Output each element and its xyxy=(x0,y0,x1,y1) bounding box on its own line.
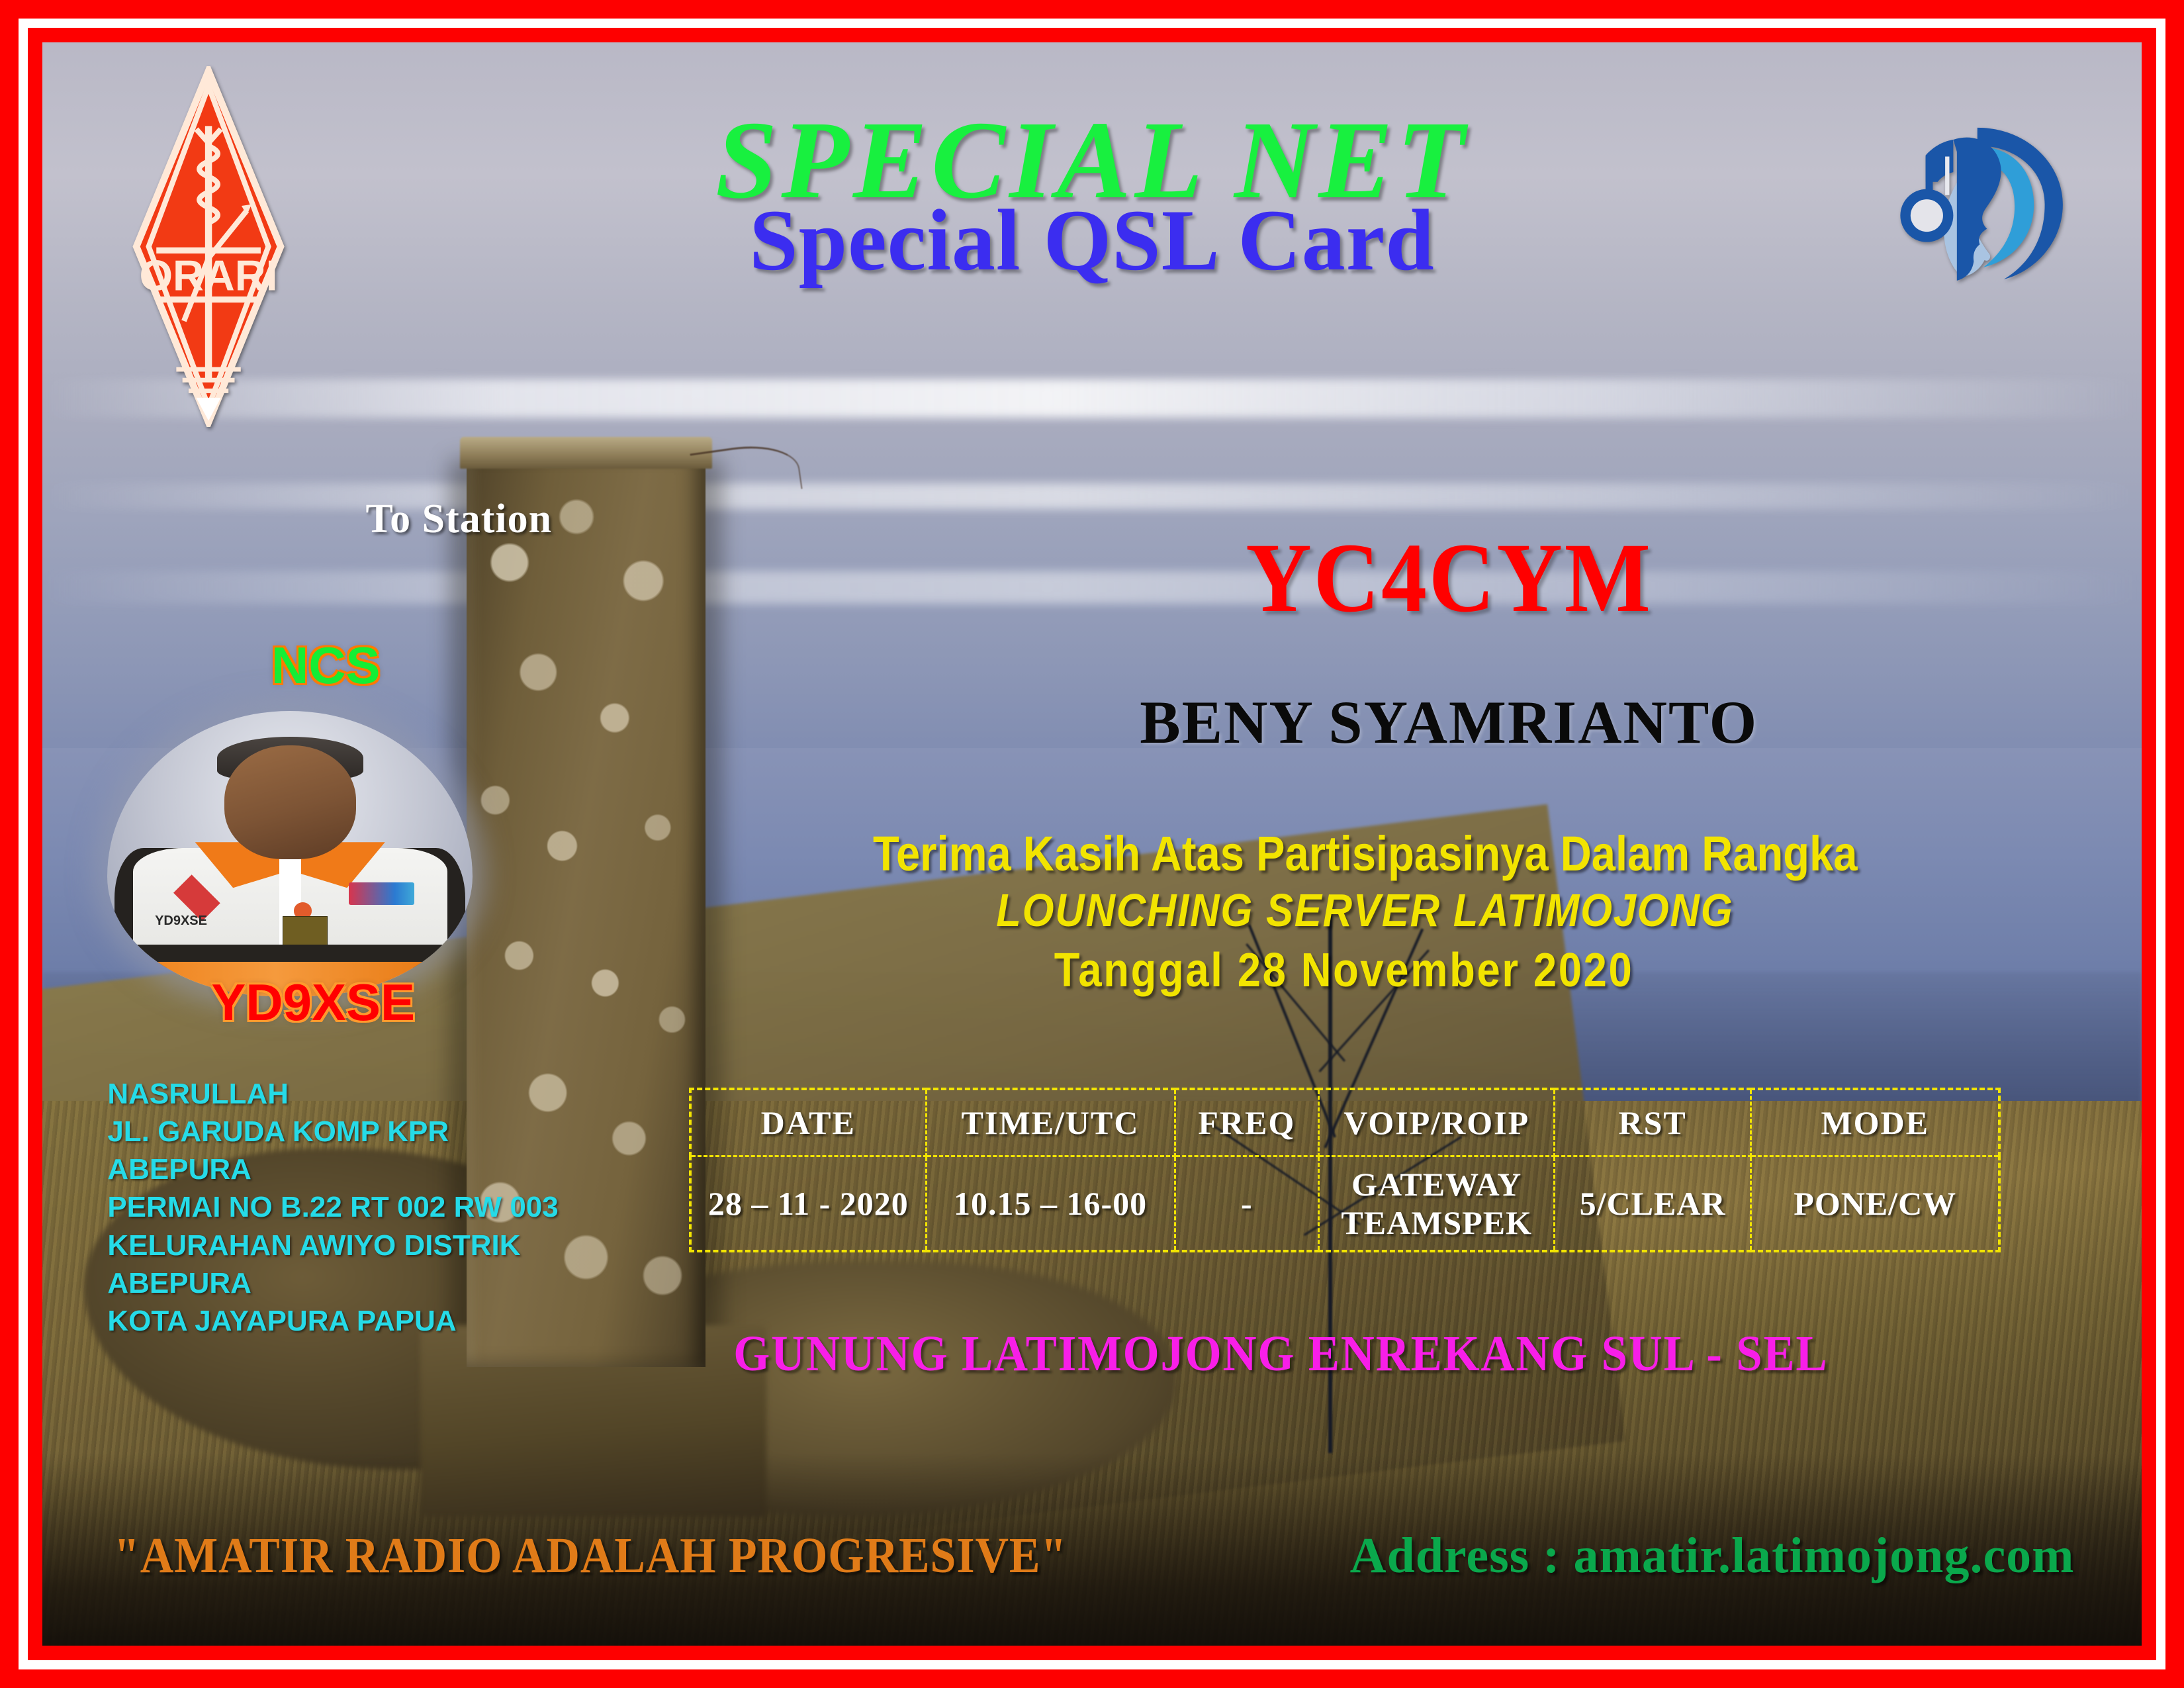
column-header-time: TIME/UTC xyxy=(926,1089,1175,1156)
address-line: PERMAI NO B.22 RT 002 RW 003 xyxy=(107,1188,737,1226)
page-subtitle: Special QSL Card xyxy=(42,197,2142,284)
cell-voip-line1: GATEWAY xyxy=(1322,1165,1551,1203)
station-callsign: YC4CYM xyxy=(927,528,1970,628)
cell-mode: PONE/CW xyxy=(1751,1156,2000,1252)
ncs-callsign: YD9XSE xyxy=(114,972,513,1033)
ncs-role-label: NCS xyxy=(158,635,494,696)
card-white-gap: ORARI SPECIAL NET Special QSL Card To St… xyxy=(19,19,2165,1669)
thanks-line: Terima Kasih Atas Partisipasinya Dalam R… xyxy=(755,829,1974,878)
column-header-voip: VOIP/ROIP xyxy=(1319,1089,1555,1156)
cloud-streak xyxy=(42,483,2142,509)
pillar-cap xyxy=(460,437,712,469)
column-header-freq: FREQ xyxy=(1175,1089,1319,1156)
column-header-date: DATE xyxy=(690,1089,926,1156)
column-header-mode: MODE xyxy=(1751,1089,2000,1156)
cell-freq: - xyxy=(1175,1156,1319,1252)
event-date-line: Tanggal 28 November 2020 xyxy=(790,947,1898,994)
qso-log-table: DATE TIME/UTC FREQ VOIP/ROIP RST MODE 28… xyxy=(689,1088,2001,1252)
cell-rst: 5/CLEAR xyxy=(1555,1156,1751,1252)
card-inner-red-border: ORARI SPECIAL NET Special QSL Card To St… xyxy=(28,28,2156,1660)
location-line: GUNUNG LATIMOJONG ENREKANG SUL - SEL xyxy=(676,1325,1886,1383)
address-line: ABEPURA xyxy=(107,1264,737,1302)
postal-address-block: NASRULLAH JL. GARUDA KOMP KPR ABEPURA PE… xyxy=(107,1075,737,1340)
cloud-streak xyxy=(42,379,2142,418)
cell-time: 10.15 – 16-00 xyxy=(926,1156,1175,1252)
web-address-text: Address : amatir.latimojong.com xyxy=(1350,1527,2075,1585)
address-line: ABEPURA xyxy=(107,1150,737,1188)
cell-voip-line2: TEAMSPEK xyxy=(1322,1203,1551,1242)
address-line: KOTA JAYAPURA PAPUA xyxy=(107,1302,737,1340)
table-header-row: DATE TIME/UTC FREQ VOIP/ROIP RST MODE xyxy=(690,1089,2000,1156)
uniform-callsign-text: YD9XSE xyxy=(155,914,207,929)
cell-date: 28 – 11 - 2020 xyxy=(690,1156,926,1252)
address-line: NASRULLAH xyxy=(107,1075,737,1113)
to-station-label: To Station xyxy=(365,496,552,543)
address-line: KELURAHAN AWIYO DISTRIK xyxy=(107,1227,737,1264)
address-line: JL. GARUDA KOMP KPR xyxy=(107,1113,737,1150)
ncs-operator-photo: YD9XSE xyxy=(107,711,473,996)
cell-voip: GATEWAY TEAMSPEK xyxy=(1319,1156,1555,1252)
event-line: LOUNCHING SERVER LATIMOJONG xyxy=(792,887,1938,933)
motto-text: "AMATIR RADIO ADALAH PROGRESIVE" xyxy=(114,1527,1067,1585)
card-background-photo: ORARI SPECIAL NET Special QSL Card To St… xyxy=(42,42,2142,1646)
table-row: 28 – 11 - 2020 10.15 – 16-00 - GATEWAY T… xyxy=(690,1156,2000,1252)
qsl-card: ORARI SPECIAL NET Special QSL Card To St… xyxy=(0,0,2184,1688)
operator-name: BENY SYAMRIANTO xyxy=(840,692,2058,753)
column-header-rst: RST xyxy=(1555,1089,1751,1156)
